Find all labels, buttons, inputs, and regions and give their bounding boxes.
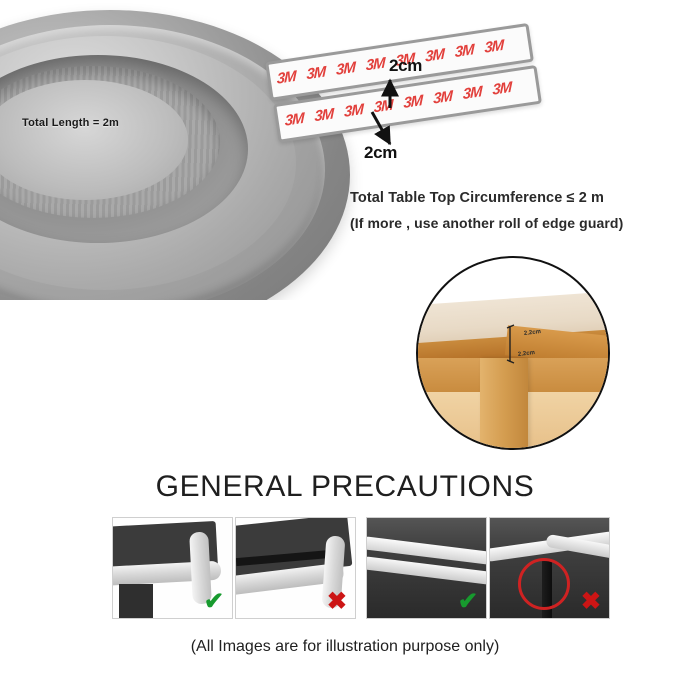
- illustration-disclaimer: (All Images are for illustration purpose…: [0, 638, 690, 656]
- dimension-label-top: 2cm: [389, 56, 422, 76]
- general-precautions-title: GENERAL PRECAUTIONS: [0, 470, 690, 504]
- precaution-panel-light-wrong: ✖: [235, 517, 356, 619]
- 3m-logo-icon: 3M: [306, 61, 325, 86]
- table-leg-dark: [119, 584, 153, 618]
- circumference-line-1: Total Table Top Circumference ≤ 2 m: [350, 190, 685, 206]
- circumference-line-2: (If more , use another roll of edge guar…: [350, 215, 685, 231]
- 3m-logo-icon: 3M: [484, 35, 503, 60]
- infographic-root: Total Length = 2m 3M 3M 3M 3M 3M 3M 3M 3…: [0, 0, 690, 700]
- 3m-logo-icon: 3M: [285, 108, 304, 133]
- precaution-panel-light-correct: ✔: [112, 517, 233, 619]
- measure-bracket-icon: [506, 322, 528, 366]
- precaution-group-dark: ✔ ✖: [366, 517, 610, 619]
- cross-icon: ✖: [327, 590, 347, 614]
- highlight-circle-icon: [518, 558, 570, 610]
- 3m-logo-icon: 3M: [492, 77, 511, 102]
- cross-icon: ✖: [581, 590, 601, 614]
- precaution-panel-dark-wrong: ✖: [489, 517, 610, 619]
- circumference-note: Total Table Top Circumference ≤ 2 m (If …: [350, 190, 685, 231]
- check-icon: ✔: [458, 590, 478, 614]
- dimension-label-bottom: 2cm: [364, 143, 397, 163]
- total-length-label: Total Length = 2m: [22, 117, 119, 129]
- 3m-logo-icon: 3M: [277, 66, 296, 91]
- precaution-group-light: ✔ ✖: [112, 517, 356, 619]
- check-icon: ✔: [204, 590, 224, 614]
- precaution-panel-dark-correct: ✔: [366, 517, 487, 619]
- table-leg: [480, 358, 528, 450]
- table-corner-photo: 2.2cm 2.2cm: [416, 256, 610, 450]
- 3m-logo-icon: 3M: [314, 103, 333, 128]
